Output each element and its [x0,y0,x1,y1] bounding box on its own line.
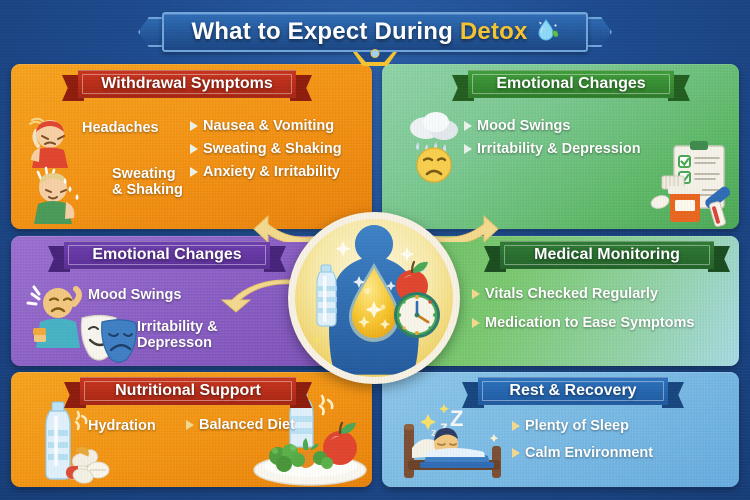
panel-heading-emotional-top: Emotional Changes [468,70,674,98]
triangle-bullet-icon [512,448,520,458]
ribbon-emotional-changes-top: Emotional Changes [452,70,690,98]
bullet-item: Mood Swings [464,118,641,134]
triangle-bullet-icon [190,144,198,154]
sweating-person-icon [20,162,96,229]
water-bottle-icon [317,265,337,326]
label-hydration: Hydration [88,418,156,434]
triangle-bullet-icon [472,289,480,299]
clock-icon [394,292,440,338]
bullet-item: Sweating & Shaking [190,141,342,157]
theater-masks-icon [78,312,138,369]
center-illustration-inner [295,219,453,377]
title-accent-text: Detox [460,18,528,45]
triangle-bullet-icon [472,318,480,328]
label-irritability-depression-mid: Irritability & Depresson [137,319,218,351]
bullet-list-rest: Plenty of Sleep Calm Environment [512,418,653,468]
water-bottle-pills-icon [26,400,114,489]
label-mood-swings-mid: Mood Swings [88,287,181,303]
panel-heading-medical: Medical Monitoring [500,241,714,269]
detox-body-illustration [288,212,460,384]
triangle-bullet-icon [190,167,198,177]
bullet-item: Nausea & Vomiting [190,118,342,134]
clipboard-checklist-medicine-icon [648,140,740,233]
ribbon-medical-monitoring: Medical Monitoring [484,241,730,269]
bullet-item: Vitals Checked Regularly [472,286,695,302]
ribbon-withdrawal-symptoms: Withdrawal Symptoms [62,70,312,98]
triangle-bullet-icon [190,121,198,131]
title-main-text: What to Expect During [191,18,453,45]
bullet-item: Medication to Ease Symptoms [472,315,695,331]
bullet-item: Irritability & Depression [464,141,641,157]
svg-text:Z: Z [450,406,463,431]
label-sweating-shaking: Sweating & Shaking [112,166,183,198]
bullet-list-medical: Vitals Checked Regularly Medication to E… [472,286,695,338]
panel-heading-withdrawal: Withdrawal Symptoms [78,70,296,98]
person-sleeping-in-bed-icon: Z z z [398,398,518,489]
label-headaches: Headaches [82,120,159,136]
bullet-list-nutrition: Balanced Diet [186,417,295,440]
triangle-bullet-icon [512,421,520,431]
water-droplet-leaf-icon [533,17,559,51]
arrow-to-emotional-mid [212,278,298,325]
bullet-item: Calm Environment [512,445,653,461]
panel-heading-rest: Rest & Recovery [478,377,668,405]
bullet-item: Plenty of Sleep [512,418,653,434]
title-banner: What to Expect During Detox [138,8,612,56]
bullet-item: Balanced Diet [186,417,295,433]
triangle-bullet-icon [464,121,472,131]
panel-heading-nutrition: Nutritional Support [80,377,296,405]
ribbon-nutritional-support: Nutritional Support [64,377,312,405]
ribbon-rest-recovery: Rest & Recovery [462,377,684,405]
bullet-list-withdrawal: Nausea & Vomiting Sweating & Shaking Anx… [190,118,342,187]
bullet-list-emotional-top: Mood Swings Irritability & Depression [464,118,641,164]
banner-dot [371,49,380,58]
page-title: What to Expect During Detox [138,17,612,47]
triangle-bullet-icon [186,420,194,430]
arrow-to-emotional-top [428,192,520,247]
triangle-bullet-icon [464,144,472,154]
bullet-item: Anxiety & Irritability [190,164,342,180]
